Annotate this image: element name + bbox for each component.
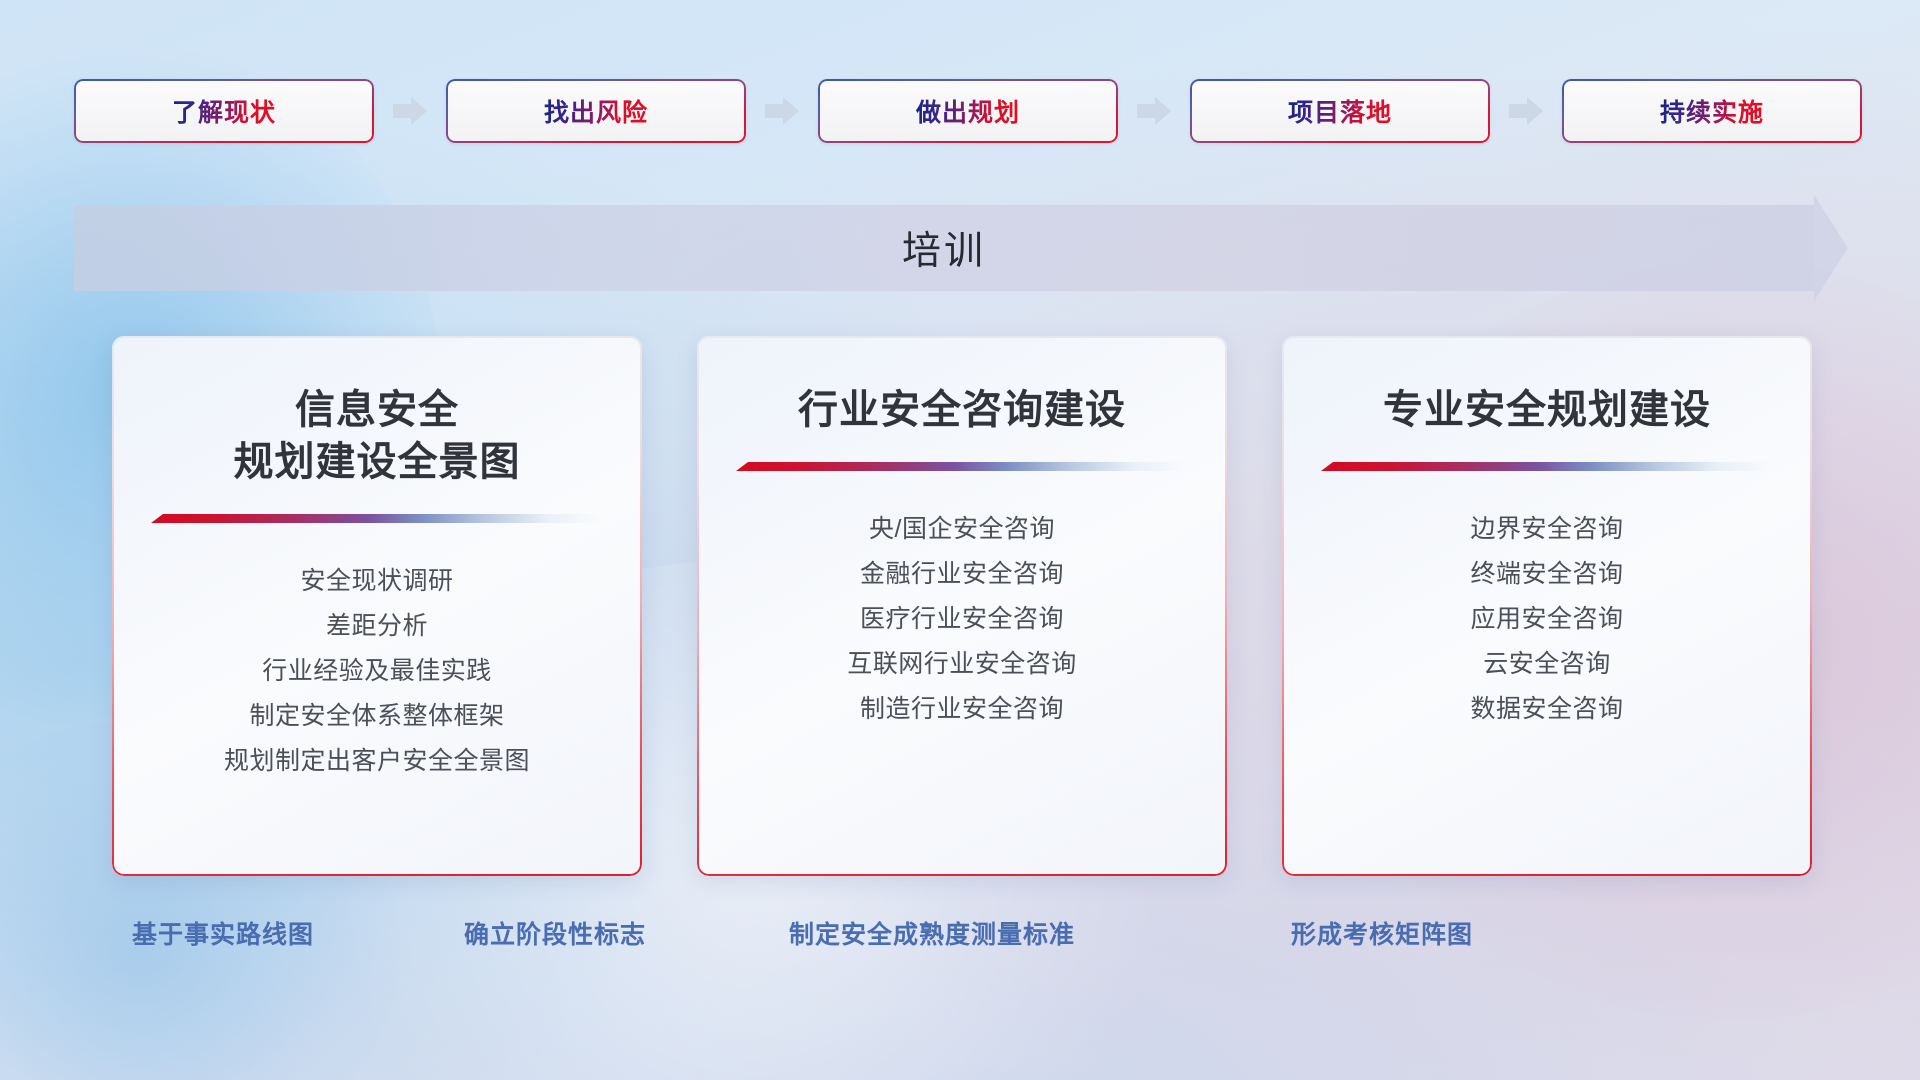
- slide-canvas: 了解现状 找出风险 做出规划 项目落地 持续实施 培训: [0, 0, 1920, 1080]
- list-item: 差距分析: [132, 604, 622, 649]
- training-banner-arrow-icon: [1814, 195, 1848, 301]
- list-item: 安全现状调研: [132, 559, 622, 604]
- footer-label-milestone: 确立阶段性标志: [464, 915, 646, 951]
- card-divider: [736, 462, 1188, 471]
- step-arrow-icon-4: [1509, 97, 1543, 125]
- card-professional-security-planning[interactable]: 专业安全规划建设 边界安全咨询 终端安全咨询 应用安全咨询 云安全咨询 数据安全…: [1282, 336, 1812, 876]
- step-label-3: 做出规划: [916, 93, 1020, 129]
- card-title: 信息安全 规划建设全景图: [112, 336, 642, 488]
- step-label-5: 持续实施: [1660, 93, 1764, 129]
- list-item: 云安全咨询: [1302, 642, 1792, 687]
- footer-label-maturity: 制定安全成熟度测量标准: [789, 915, 1075, 951]
- step-box-3[interactable]: 做出规划: [818, 79, 1118, 143]
- step-label-2: 找出风险: [544, 93, 648, 129]
- card-divider: [1321, 462, 1773, 471]
- step-box-5[interactable]: 持续实施: [1562, 79, 1862, 143]
- list-item: 数据安全咨询: [1302, 687, 1792, 732]
- card-info-security-panorama[interactable]: 信息安全 规划建设全景图 安全现状调研 差距分析 行业经验及最佳实践 制定安全体…: [112, 336, 642, 876]
- list-item: 金融行业安全咨询: [717, 552, 1207, 597]
- list-item: 终端安全咨询: [1302, 552, 1792, 597]
- list-item: 制造行业安全咨询: [717, 687, 1207, 732]
- card-title: 行业安全咨询建设: [697, 336, 1227, 436]
- card-item-list: 央/国企安全咨询 金融行业安全咨询 医疗行业安全咨询 互联网行业安全咨询 制造行…: [697, 471, 1227, 732]
- list-item: 医疗行业安全咨询: [717, 597, 1207, 642]
- card-title: 专业安全规划建设: [1282, 336, 1812, 436]
- step-box-4[interactable]: 项目落地: [1190, 79, 1490, 143]
- step-label-1: 了解现状: [172, 93, 276, 129]
- step-label-4: 项目落地: [1288, 93, 1392, 129]
- step-arrow-icon-2: [765, 97, 799, 125]
- footer-label-matrix: 形成考核矩阵图: [1291, 915, 1473, 951]
- list-item: 互联网行业安全咨询: [717, 642, 1207, 687]
- process-step-row: 了解现状 找出风险 做出规划 项目落地 持续实施: [74, 78, 1846, 144]
- step-box-1[interactable]: 了解现状: [74, 79, 374, 143]
- list-item: 规划制定出客户安全全景图: [132, 739, 622, 784]
- step-arrow-icon-1: [393, 97, 427, 125]
- card-industry-security-consulting[interactable]: 行业安全咨询建设 央/国企安全咨询 金融行业安全咨询 医疗行业安全咨询 互联网行…: [697, 336, 1227, 876]
- card-item-list: 安全现状调研 差距分析 行业经验及最佳实践 制定安全体系整体框架 规划制定出客户…: [112, 523, 642, 784]
- card-item-list: 边界安全咨询 终端安全咨询 应用安全咨询 云安全咨询 数据安全咨询: [1282, 471, 1812, 732]
- list-item: 行业经验及最佳实践: [132, 649, 622, 694]
- footer-label-row: 基于事实路线图 确立阶段性标志 制定安全成熟度测量标准 形成考核矩阵图: [0, 915, 1920, 961]
- training-banner: 培训: [74, 205, 1846, 291]
- card-divider: [151, 514, 603, 523]
- list-item: 制定安全体系整体框架: [132, 694, 622, 739]
- card-row: 信息安全 规划建设全景图 安全现状调研 差距分析 行业经验及最佳实践 制定安全体…: [112, 336, 1812, 876]
- training-banner-title: 培训: [74, 205, 1814, 291]
- step-box-2[interactable]: 找出风险: [446, 79, 746, 143]
- list-item: 边界安全咨询: [1302, 507, 1792, 552]
- step-arrow-icon-3: [1137, 97, 1171, 125]
- footer-label-roadmap: 基于事实路线图: [132, 915, 314, 951]
- list-item: 应用安全咨询: [1302, 597, 1792, 642]
- list-item: 央/国企安全咨询: [717, 507, 1207, 552]
